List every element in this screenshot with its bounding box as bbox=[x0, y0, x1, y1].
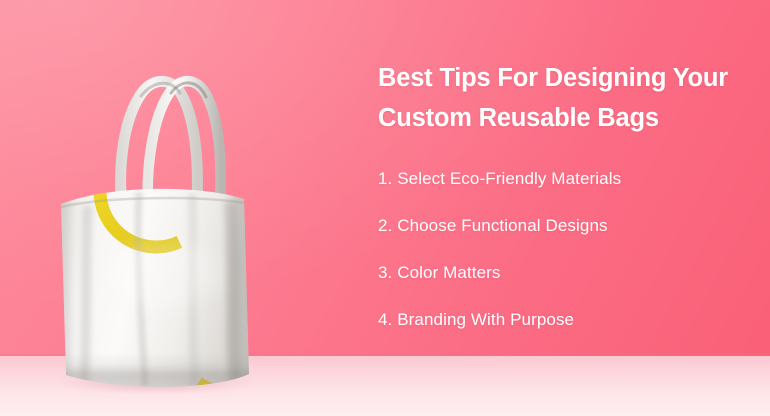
list-item: 3. Color Matters bbox=[378, 262, 750, 284]
bag-body bbox=[44, 125, 283, 399]
promo-banner: Best Tips For Designing Your Custom Reus… bbox=[0, 0, 770, 416]
headline-line-2: Custom Reusable Bags bbox=[378, 104, 659, 132]
tote-bag-illustration bbox=[44, 52, 274, 397]
tote-bag-image bbox=[44, 52, 274, 397]
tips-list: 1. Select Eco-Friendly Materials 2. Choo… bbox=[378, 168, 750, 331]
headline-block: Best Tips For Designing Your Custom Reus… bbox=[378, 58, 750, 138]
list-item: 1. Select Eco-Friendly Materials bbox=[378, 168, 750, 190]
headline-line-1: Best Tips For Designing Your bbox=[378, 64, 728, 92]
list-item: 4. Branding With Purpose bbox=[378, 309, 750, 331]
list-item: 2. Choose Functional Designs bbox=[378, 215, 750, 237]
page-title: Best Tips For Designing Your Custom Reus… bbox=[378, 58, 750, 138]
